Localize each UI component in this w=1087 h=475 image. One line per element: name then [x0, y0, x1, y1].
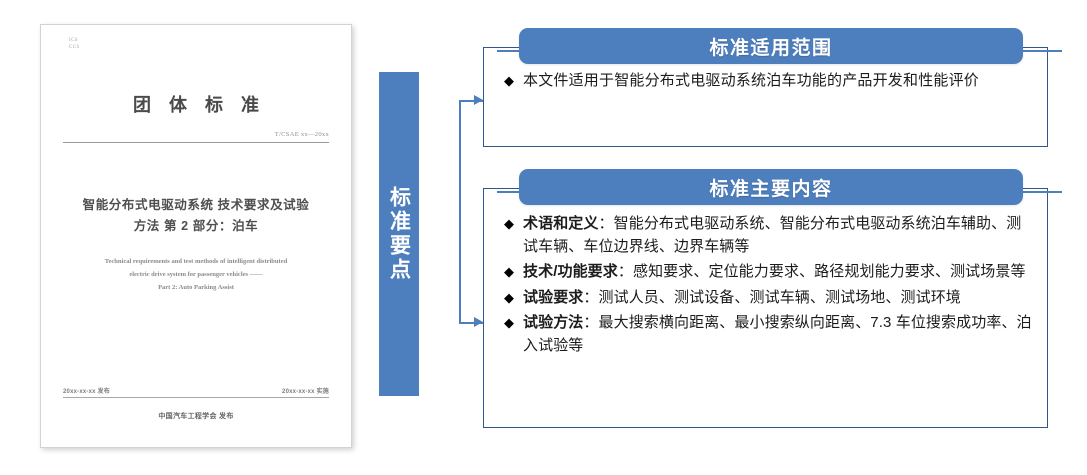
- bullet-diamond-icon: ◆: [504, 287, 514, 304]
- card-scope-right-stub: [1020, 50, 1062, 52]
- card-main-content-bullet-list: ◆ 术语和定义：智能分布式电驱动系统、智能分布式电驱动系统泊车辅助、测试车辆、车…: [484, 189, 1047, 357]
- card-main-content-header-label: 标准主要内容: [709, 174, 832, 201]
- document-english-title: Technical requirements and test methods …: [63, 255, 329, 294]
- connector-vertical-content: [459, 160, 461, 324]
- card-main-content-bullet-3-label: 试验要求: [523, 289, 583, 306]
- card-scope-bullet-text: 本文件适用于智能分布式电驱动系统泊车功能的产品开发和性能评价: [523, 70, 1029, 92]
- card-scope-header-label: 标准适用范围: [709, 33, 832, 60]
- center-node-label: 标准要点: [387, 186, 412, 282]
- document-main-title: 智能分布式电驱动系统 技术要求及试验 方法 第 2 部分：泊车: [63, 195, 329, 237]
- card-scope-header: 标准适用范围: [519, 28, 1023, 64]
- card-main-content-bullet-4-label: 试验方法: [523, 314, 583, 331]
- card-main-content-bullet-2: 技术/功能要求：感知要求、定位能力要求、路径规划能力要求、测试场景等: [523, 261, 1033, 284]
- document-english-title-line-2: electric drive system for passenger vehi…: [63, 268, 329, 281]
- bullet-diamond-icon: ◆: [504, 261, 514, 278]
- document-ccs-line: CCS: [69, 44, 329, 51]
- connector-arrow-content-icon: [474, 317, 483, 327]
- card-main-content-bullet-3: 试验要求：测试人员、测试设备、测试车辆、测试场地、测试环境: [523, 287, 1033, 310]
- document-footer-rule: [63, 397, 329, 398]
- bullet-diamond-icon: ◆: [504, 213, 514, 230]
- list-item: ◆ 本文件适用于智能分布式电驱动系统泊车功能的产品开发和性能评价: [504, 70, 1029, 92]
- card-main-content-body: ◆ 术语和定义：智能分布式电驱动系统、智能分布式电驱动系统泊车辅助、测试车辆、车…: [483, 188, 1048, 428]
- document-english-title-line-1: Technical requirements and test methods …: [63, 255, 329, 268]
- standard-document-cover-image: ICS CCS 团体标准 T/CSAE xx—20xx 智能分布式电驱动系统 技…: [40, 24, 352, 448]
- list-item: ◆ 技术/功能要求：感知要求、定位能力要求、路径规划能力要求、测试场景等: [504, 261, 1033, 284]
- document-cover-inner: ICS CCS 团体标准 T/CSAE xx—20xx 智能分布式电驱动系统 技…: [41, 25, 351, 447]
- document-main-title-line-1: 智能分布式电驱动系统 技术要求及试验: [63, 195, 329, 216]
- card-main-content-bullet-1-label: 术语和定义: [523, 215, 599, 232]
- document-standard-number: T/CSAE xx—20xx: [63, 131, 329, 138]
- list-item: ◆ 试验要求：测试人员、测试设备、测试车辆、测试场地、测试环境: [504, 287, 1033, 310]
- bullet-diamond-icon: ◆: [504, 70, 514, 87]
- document-issue-date: 20xx-xx-xx 发布: [63, 386, 110, 395]
- card-main-content-bullet-1: 术语和定义：智能分布式电驱动系统、智能分布式电驱动系统泊车辅助、测试车辆、车位边…: [523, 213, 1033, 258]
- document-ics-code: ICS CCS: [63, 37, 329, 51]
- card-main-content-bullet-1-text: ：智能分布式电驱动系统、智能分布式电驱动系统泊车辅助、测试车辆、车位边界线、边界…: [523, 215, 1021, 255]
- connector-arrow-scope-icon: [474, 95, 483, 105]
- connector-vertical-scope: [459, 100, 461, 160]
- document-implement-date: 20xx-xx-xx 实施: [282, 386, 329, 395]
- card-main-content-bullet-4-text: ：最大搜索横向距离、最小搜索纵向距离、7.3 车位搜索成功率、泊入试验等: [523, 314, 1032, 354]
- document-main-title-line-2: 方法 第 2 部分：泊车: [63, 216, 329, 237]
- list-item: ◆ 术语和定义：智能分布式电驱动系统、智能分布式电驱动系统泊车辅助、测试车辆、车…: [504, 213, 1033, 258]
- list-item: ◆ 试验方法：最大搜索横向距离、最小搜索纵向距离、7.3 车位搜索成功率、泊入试…: [504, 312, 1033, 357]
- document-publisher: 中国汽车工程学会 发布: [41, 411, 351, 421]
- card-main-content-bullet-2-label: 技术/功能要求: [523, 263, 618, 280]
- card-main-content-bullet-4: 试验方法：最大搜索横向距离、最小搜索纵向距离、7.3 车位搜索成功率、泊入试验等: [523, 312, 1033, 357]
- center-node-key-points: 标准要点: [379, 72, 419, 396]
- card-main-content-header: 标准主要内容: [519, 169, 1023, 205]
- card-main-content-right-stub: [1020, 191, 1062, 193]
- bullet-diamond-icon: ◆: [504, 312, 514, 329]
- document-big-title: 团体标准: [63, 91, 329, 117]
- document-dates-row: 20xx-xx-xx 发布 20xx-xx-xx 实施: [63, 386, 329, 395]
- document-english-title-line-3: Part 2: Auto Parking Assist: [63, 281, 329, 294]
- document-ics-line: ICS: [69, 37, 329, 44]
- card-main-content-bullet-2-text: ：感知要求、定位能力要求、路径规划能力要求、测试场景等: [618, 263, 1026, 280]
- card-main-content-bullet-3-text: ：测试人员、测试设备、测试车辆、测试场地、测试环境: [583, 289, 961, 306]
- document-header-rule: [63, 142, 329, 143]
